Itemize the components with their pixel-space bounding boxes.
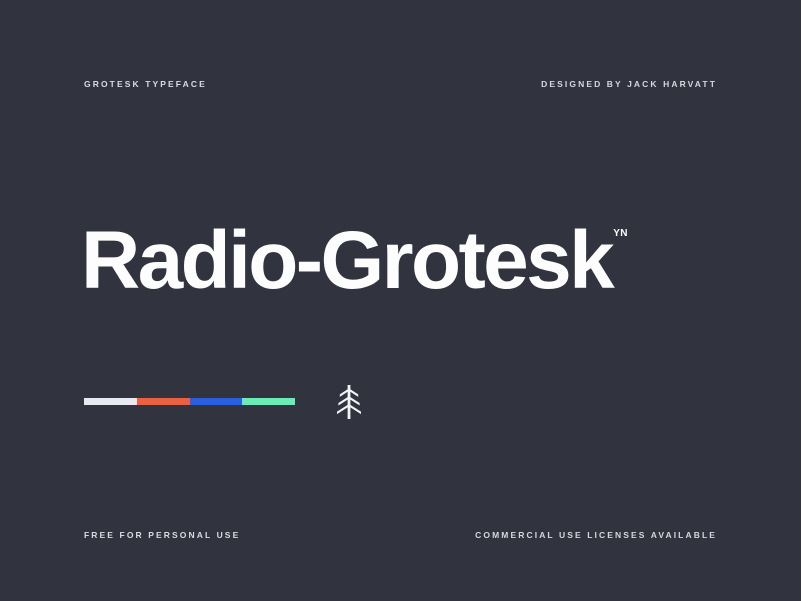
footer-left-label: FREE FOR PERSONAL USE — [84, 531, 240, 540]
header-right-label: DESIGNED BY JACK HARVATT — [541, 80, 717, 89]
swatch-mint-green — [242, 398, 295, 405]
pine-tree-icon — [336, 385, 362, 419]
swatch-coral-red — [137, 398, 190, 405]
swatch-off-white — [84, 398, 137, 405]
header-meta-row: GROTESK TYPEFACE DESIGNED BY JACK HARVAT… — [0, 80, 801, 89]
header-left-label: GROTESK TYPEFACE — [84, 80, 207, 89]
poster-canvas: GROTESK TYPEFACE DESIGNED BY JACK HARVAT… — [0, 0, 801, 601]
page-title: Radio-Grotesk — [81, 223, 612, 298]
color-swatch-bar — [84, 398, 295, 405]
footer-right-label: COMMERCIAL USE LICENSES AVAILABLE — [475, 531, 717, 540]
page-title-superscript: YN — [613, 229, 628, 239]
footer-meta-row: FREE FOR PERSONAL USE COMMERCIAL USE LIC… — [0, 531, 801, 540]
swatch-royal-blue — [190, 398, 243, 405]
hero-title-block: Radio-Grotesk YN — [81, 223, 628, 298]
